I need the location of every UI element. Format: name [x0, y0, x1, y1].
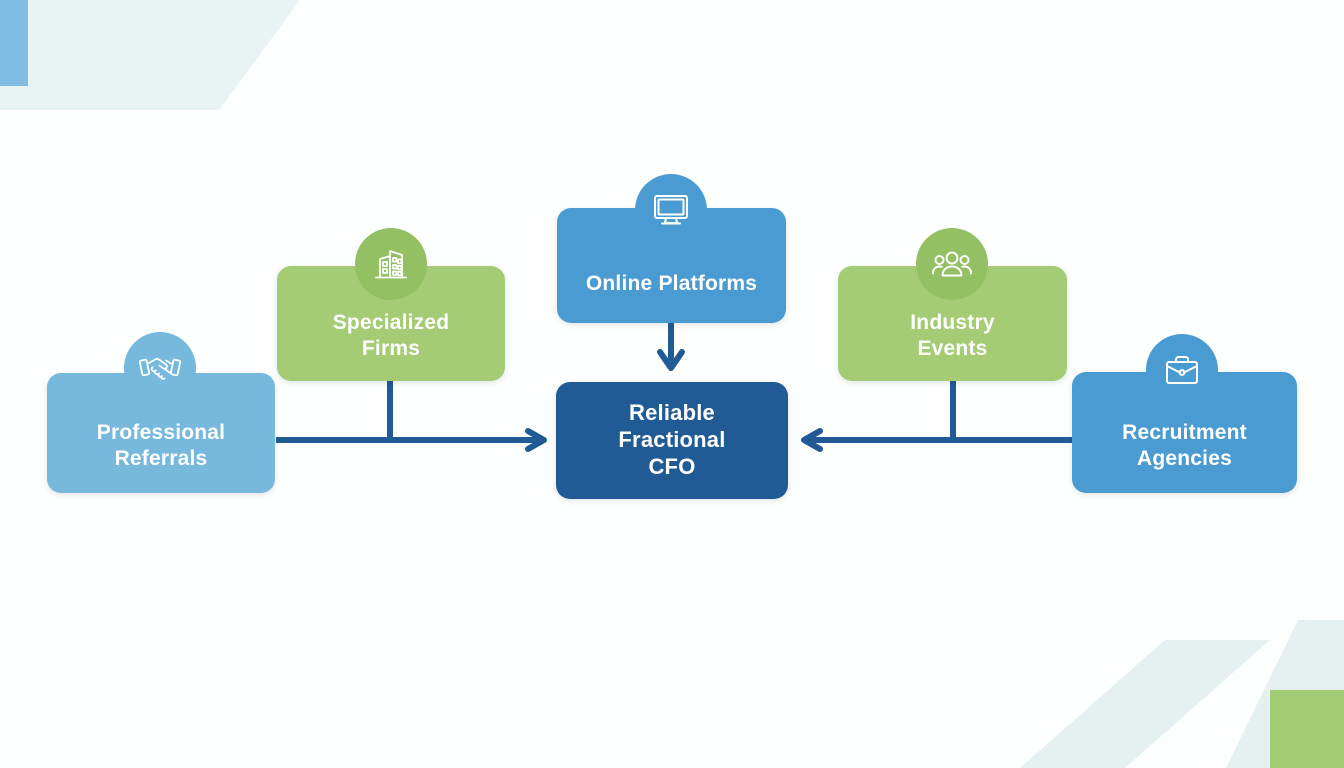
connector-specialized-firms-stem — [387, 381, 393, 440]
people-icon — [916, 228, 988, 300]
node-professional-referrals-label: Professional Referrals — [97, 420, 225, 471]
node-online-platforms-label: Online Platforms — [586, 271, 757, 297]
building-icon — [355, 228, 427, 300]
node-specialized-firms-label: Specialized Firms — [333, 310, 450, 361]
node-industry-events-label: Industry Events — [910, 310, 994, 361]
node-reliable-fractional-cfo-label: Reliable Fractional CFO — [618, 400, 725, 480]
node-reliable-fractional-cfo[interactable]: Reliable Fractional CFO — [556, 382, 788, 499]
node-recruitment-agencies-label: Recruitment Agencies — [1122, 420, 1247, 471]
bottom-right-green-square — [1270, 690, 1344, 768]
arrowhead-down-icon — [655, 348, 687, 379]
diagram-canvas: Professional Referrals Specialized Firms… — [0, 0, 1344, 768]
bottom-right-stripe-2 — [1180, 620, 1344, 768]
handshake-icon — [124, 332, 196, 404]
arrowhead-right-icon — [524, 425, 550, 460]
arrowhead-left-icon — [798, 425, 824, 460]
top-left-teal-shape — [0, 0, 300, 110]
connector-right-line — [806, 437, 1072, 443]
briefcase-icon — [1146, 334, 1218, 406]
connector-industry-events-stem — [950, 381, 956, 440]
connector-left-line — [276, 437, 538, 443]
monitor-icon — [635, 174, 707, 246]
top-left-blue-bar — [0, 0, 28, 86]
bottom-right-stripe-1 — [1020, 640, 1270, 768]
